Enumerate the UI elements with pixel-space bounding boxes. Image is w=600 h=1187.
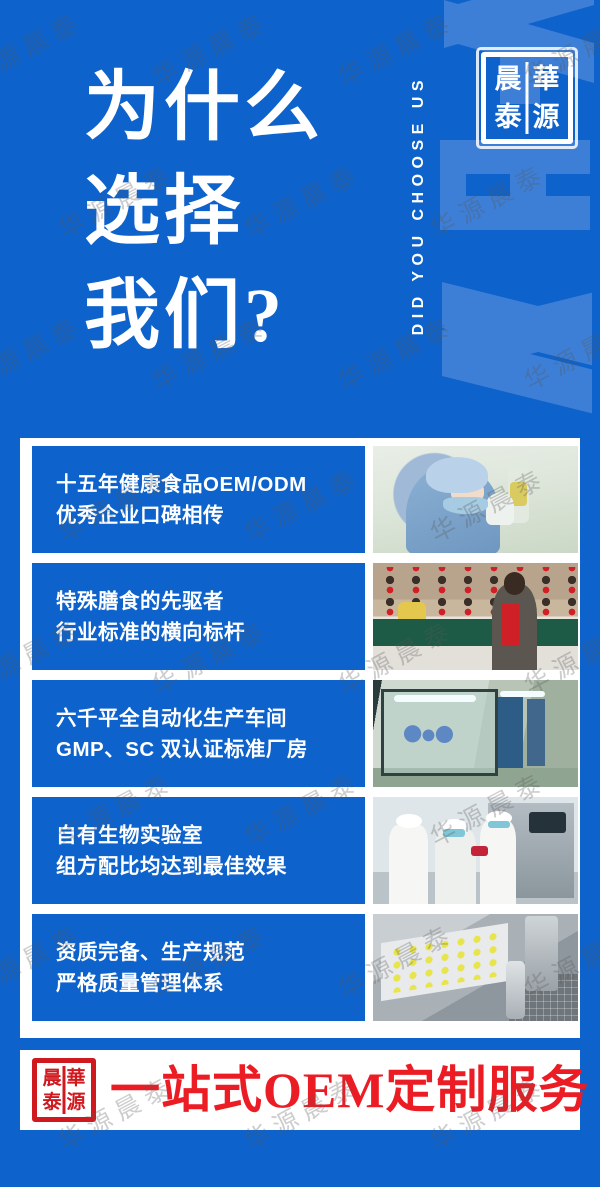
blister-packing-machine-photo <box>373 914 578 1021</box>
feature-panel: 十五年健康食品OEM/ODM 优秀企业口碑相传 特殊膳食的先驱者 行业标准的横向… <box>20 438 580 1038</box>
watermark-text: 华源晨泰 <box>0 306 89 398</box>
feature-card: 十五年健康食品OEM/ODM 优秀企业口碑相传 <box>32 446 365 553</box>
feature-row: 六千平全自动化生产车间 GMP、SC 双认证标准厂房 <box>32 680 578 787</box>
bottom-banner: 晨 華 泰 源 一站式OEM定制服务 <box>20 1050 580 1130</box>
feature-line-1: 特殊膳食的先驱者 <box>56 586 365 617</box>
conference-audience-photo <box>373 563 578 670</box>
feature-card: 自有生物实验室 组方配比均达到最佳效果 <box>32 797 365 904</box>
feature-line-2: 组方配比均达到最佳效果 <box>56 851 365 882</box>
brand-seal-top: 晨 華 泰 源 <box>481 52 573 144</box>
title-line-3: 我们? <box>84 264 394 368</box>
feature-line-2: GMP、SC 双认证标准厂房 <box>56 734 365 765</box>
production-line-staff-photo <box>373 797 578 904</box>
feature-card: 特殊膳食的先驱者 行业标准的横向标杆 <box>32 563 365 670</box>
brand-seal-bottom: 晨 華 泰 源 <box>32 1058 96 1122</box>
feature-row: 特殊膳食的先驱者 行业标准的横向标杆 <box>32 563 578 670</box>
watermark-text: 华源晨泰 <box>423 154 553 246</box>
feature-card: 六千平全自动化生产车间 GMP、SC 双认证标准厂房 <box>32 680 365 787</box>
feature-line-2: 严格质量管理体系 <box>56 968 365 999</box>
feature-row: 资质完备、生产规范 严格质量管理体系 <box>32 914 578 1021</box>
feature-line-2: 优秀企业口碑相传 <box>56 500 365 531</box>
watermark-text: 华源晨泰 <box>517 306 600 398</box>
seal-char-1: 晨 <box>489 60 527 98</box>
seal-char-3: 泰 <box>40 1090 64 1114</box>
lab-technician-photo <box>373 446 578 553</box>
vertical-caption: DID YOU CHOOSE US <box>404 14 434 396</box>
poster-root: DID YOU CHOOSE US 晨 華 泰 源 为什么 选择 我们? 十五年… <box>0 0 600 1187</box>
feature-line-1: 自有生物实验室 <box>56 820 365 851</box>
feature-list: 十五年健康食品OEM/ODM 优秀企业口碑相传 特殊膳食的先驱者 行业标准的横向… <box>32 446 578 1021</box>
seal-char-2: 華 <box>527 60 565 98</box>
feature-card: 资质完备、生产规范 严格质量管理体系 <box>32 914 365 1021</box>
seal-char-3: 泰 <box>489 98 527 136</box>
cleanroom-corridor-photo <box>373 680 578 787</box>
feature-line-1: 六千平全自动化生产车间 <box>56 703 365 734</box>
seal-char-1: 晨 <box>40 1066 64 1090</box>
vertical-caption-text: DID YOU CHOOSE US <box>410 75 428 335</box>
seal-char-2: 華 <box>64 1066 88 1090</box>
watermark-text: 华源晨泰 <box>0 2 89 94</box>
seal-char-4: 源 <box>64 1090 88 1114</box>
seal-char-4: 源 <box>527 98 565 136</box>
feature-row: 十五年健康食品OEM/ODM 优秀企业口碑相传 <box>32 446 578 553</box>
feature-line-2: 行业标准的横向标杆 <box>56 617 365 648</box>
title-line-2: 选择 <box>84 160 394 264</box>
seal-grid: 晨 華 泰 源 <box>481 52 573 144</box>
feature-row: 自有生物实验室 组方配比均达到最佳效果 <box>32 797 578 904</box>
feature-line-1: 资质完备、生产规范 <box>56 937 365 968</box>
feature-line-1: 十五年健康食品OEM/ODM <box>56 469 365 500</box>
seal-grid: 晨 華 泰 源 <box>32 1058 96 1122</box>
title-line-1: 为什么 <box>84 56 394 160</box>
page-title: 为什么 选择 我们? <box>84 56 394 368</box>
banner-headline: 一站式OEM定制服务 <box>110 1065 589 1115</box>
